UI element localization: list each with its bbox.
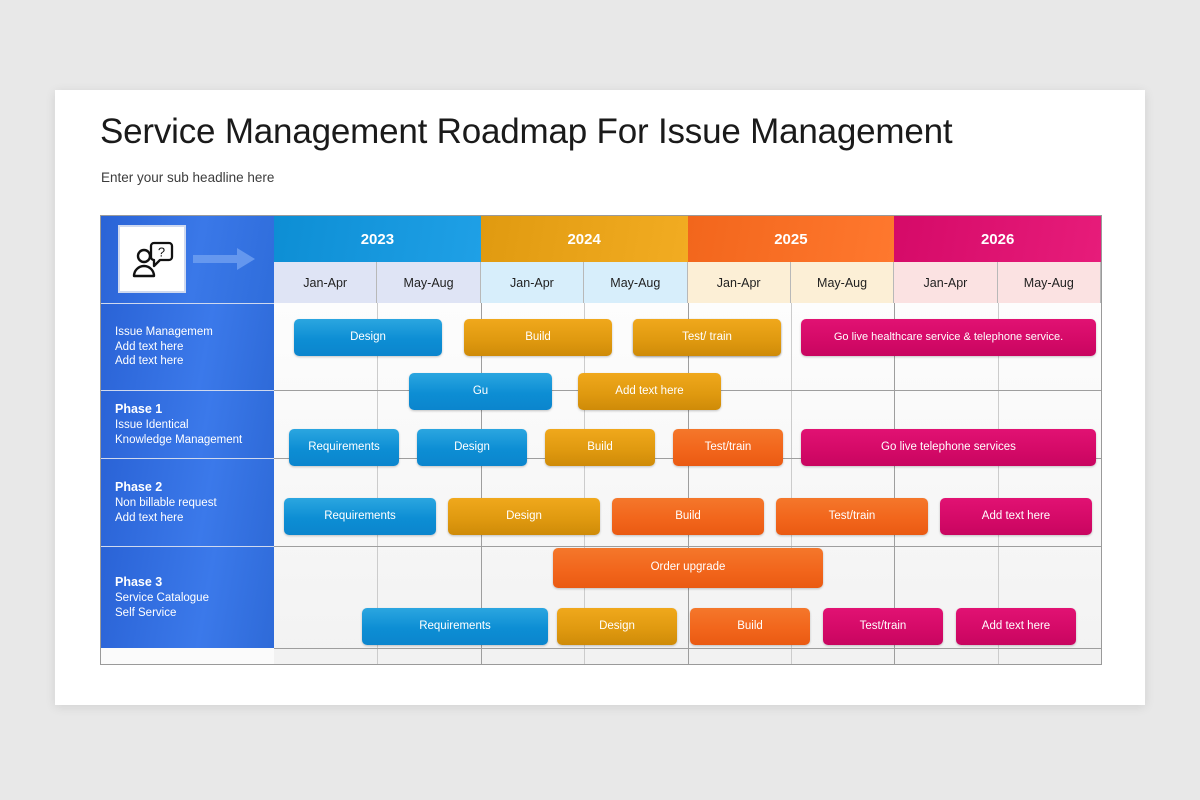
roadmap-icon-cell: ? xyxy=(101,216,274,303)
task-bar-label: Go live telephone services xyxy=(881,441,1016,454)
person-question-icon: ? xyxy=(118,225,186,293)
roadmap-label-column: ? Issue ManagememAdd text hereAdd text h… xyxy=(101,216,274,664)
grid-line-horizontal xyxy=(274,648,1101,649)
row-label-3: Phase 3Service CatalogueSelf Service xyxy=(101,546,274,648)
task-bar-label: Requirements xyxy=(419,620,491,633)
task-bar[interactable]: Test/ train xyxy=(633,319,781,356)
row-label-title: Phase 3 xyxy=(115,574,274,590)
task-bar-label: Test/ train xyxy=(682,331,732,344)
period-header-2025-May-Aug[interactable]: May-Aug xyxy=(791,262,894,303)
person-question-glyph: ? xyxy=(130,239,174,279)
row-label-line: Service Catalogue xyxy=(115,591,274,606)
task-bar[interactable]: Build xyxy=(545,429,655,466)
year-header-2026[interactable]: 2026 xyxy=(894,216,1101,262)
grid-line-horizontal xyxy=(274,546,1101,547)
task-bar-label: Build xyxy=(587,441,613,454)
task-bar-label: Build xyxy=(675,510,701,523)
task-bar-label: Add text here xyxy=(982,510,1050,523)
period-header-2024-May-Aug[interactable]: May-Aug xyxy=(584,262,687,303)
task-bar-label: Gu xyxy=(473,385,488,398)
task-bar[interactable]: Design xyxy=(417,429,527,466)
task-bar-label: Design xyxy=(350,331,386,344)
year-header-2024[interactable]: 2024 xyxy=(481,216,688,262)
task-bar[interactable]: Design xyxy=(448,498,600,535)
year-header-2023[interactable]: 2023 xyxy=(274,216,481,262)
row-label-line: Add text here xyxy=(115,354,274,369)
task-bar-label: Test/train xyxy=(860,620,907,633)
row-label-2: Phase 2Non billable requestAdd text here xyxy=(101,458,274,546)
row-label-title: Phase 2 xyxy=(115,479,274,495)
roadmap-chart: ? Issue ManagememAdd text hereAdd text h… xyxy=(100,215,1102,665)
task-bar-label: Order upgrade xyxy=(651,561,726,574)
row-label-title: Phase 1 xyxy=(115,401,274,417)
task-bar-label: Design xyxy=(454,441,490,454)
task-bar[interactable]: Order upgrade xyxy=(553,548,823,588)
task-bar-label: Test/train xyxy=(829,510,876,523)
task-bar-label: Design xyxy=(599,620,635,633)
task-bar-label: Design xyxy=(506,510,542,523)
task-bar-label: Requirements xyxy=(324,510,396,523)
task-bar-label: Requirements xyxy=(308,441,380,454)
period-header-2024-Jan-Apr[interactable]: Jan-Apr xyxy=(481,262,584,303)
task-bar[interactable]: Requirements xyxy=(362,608,548,645)
row-label-line: Knowledge Management xyxy=(115,433,274,448)
period-header-2026-May-Aug[interactable]: May-Aug xyxy=(998,262,1101,303)
task-bar[interactable]: Build xyxy=(612,498,764,535)
row-label-line: Non billable request xyxy=(115,496,274,511)
task-bar-label: Add text here xyxy=(615,385,683,398)
task-bar[interactable]: Go live healthcare service & telephone s… xyxy=(801,319,1096,356)
task-bar[interactable]: Gu xyxy=(409,373,552,410)
task-bar[interactable]: Go live telephone services xyxy=(801,429,1096,466)
task-bar[interactable]: Requirements xyxy=(289,429,399,466)
task-bar-label: Add text here xyxy=(982,620,1050,633)
year-header-2025[interactable]: 2025 xyxy=(688,216,895,262)
page-title: Service Management Roadmap For Issue Man… xyxy=(100,112,952,152)
task-bar[interactable]: Test/train xyxy=(673,429,783,466)
period-header-2023-May-Aug[interactable]: May-Aug xyxy=(377,262,480,303)
task-bar[interactable]: Add text here xyxy=(578,373,721,410)
period-header-2026-Jan-Apr[interactable]: Jan-Apr xyxy=(894,262,997,303)
row-label-line: Self Service xyxy=(115,606,274,621)
task-bar[interactable]: Requirements xyxy=(284,498,436,535)
task-bar[interactable]: Add text here xyxy=(940,498,1092,535)
row-label-line: Issue Identical xyxy=(115,418,274,433)
period-header-2023-Jan-Apr[interactable]: Jan-Apr xyxy=(274,262,377,303)
task-bar[interactable]: Add text here xyxy=(956,608,1076,645)
row-label-title: Issue Managemem xyxy=(115,325,274,340)
task-bar[interactable]: Test/train xyxy=(776,498,928,535)
row-label-1: Phase 1Issue IdenticalKnowledge Manageme… xyxy=(101,390,274,458)
task-bar[interactable]: Build xyxy=(690,608,810,645)
svg-text:?: ? xyxy=(158,245,165,260)
roadmap-body: DesignBuildBuildTest/ trainGo live healt… xyxy=(274,303,1101,664)
grid-line-vertical xyxy=(688,303,689,664)
page-subtitle: Enter your sub headline here xyxy=(101,170,274,185)
task-bar[interactable]: Design xyxy=(557,608,677,645)
row-label-line: Add text here xyxy=(115,511,274,526)
task-bar[interactable]: Design xyxy=(294,319,442,356)
task-bar[interactable]: Build xyxy=(464,319,612,356)
period-header-2025-Jan-Apr[interactable]: Jan-Apr xyxy=(688,262,791,303)
task-bar-label: Test/train xyxy=(705,441,752,454)
slide-canvas: Service Management Roadmap For Issue Man… xyxy=(55,90,1145,705)
task-bar-label: Build xyxy=(737,620,763,633)
row-label-line: Add text here xyxy=(115,340,274,355)
row-label-0: Issue ManagememAdd text hereAdd text her… xyxy=(101,303,274,390)
task-bar-label: Go live healthcare service & telephone s… xyxy=(834,331,1063,344)
right-arrow-icon xyxy=(193,248,255,270)
task-bar[interactable]: Test/train xyxy=(823,608,943,645)
task-bar-label: Build xyxy=(525,331,551,344)
